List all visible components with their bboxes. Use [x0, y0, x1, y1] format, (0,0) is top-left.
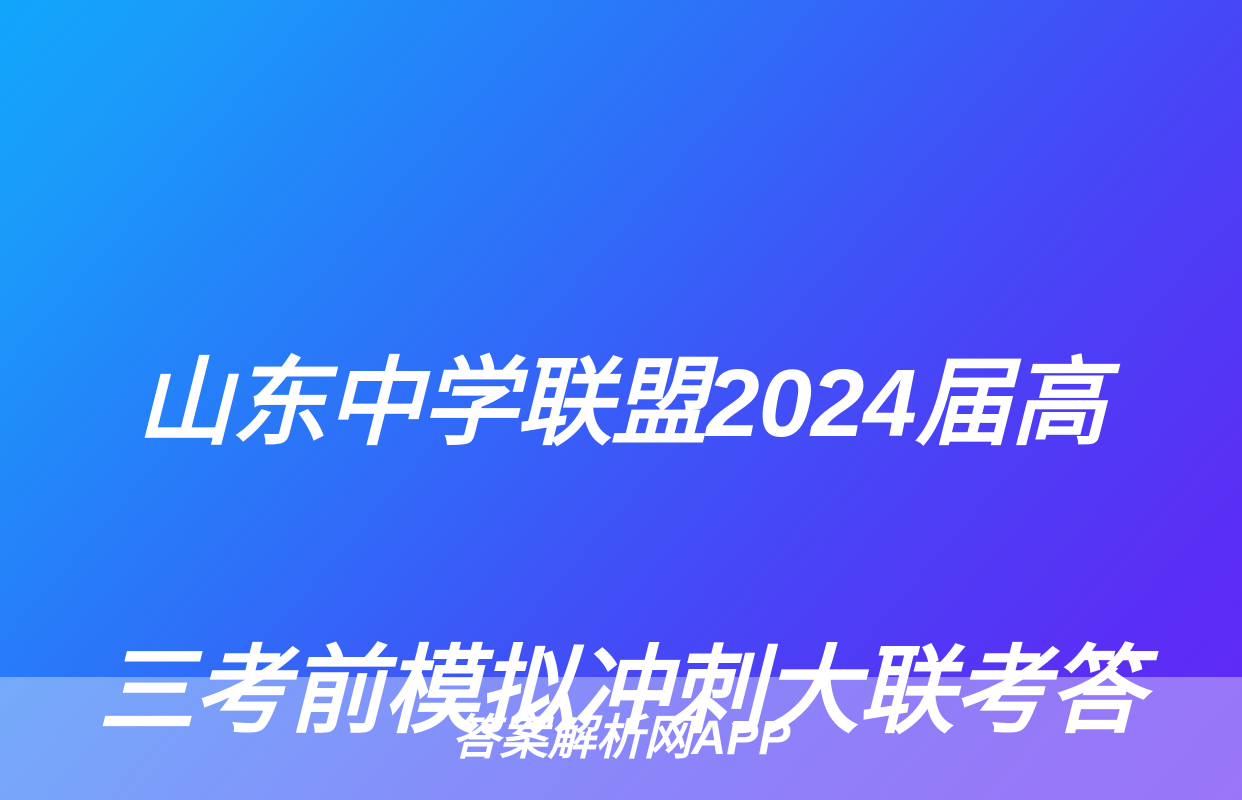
title-line-1: 山东中学联盟2024届高: [46, 332, 1196, 476]
watermark-band: 答案解析网APP: [0, 677, 1242, 800]
watermark-label: 答案解析网APP: [452, 715, 791, 763]
poster-image: 山东中学联盟2024届高 三考前模拟冲刺大联考答 案(生物 答案解析网APP: [0, 0, 1242, 800]
